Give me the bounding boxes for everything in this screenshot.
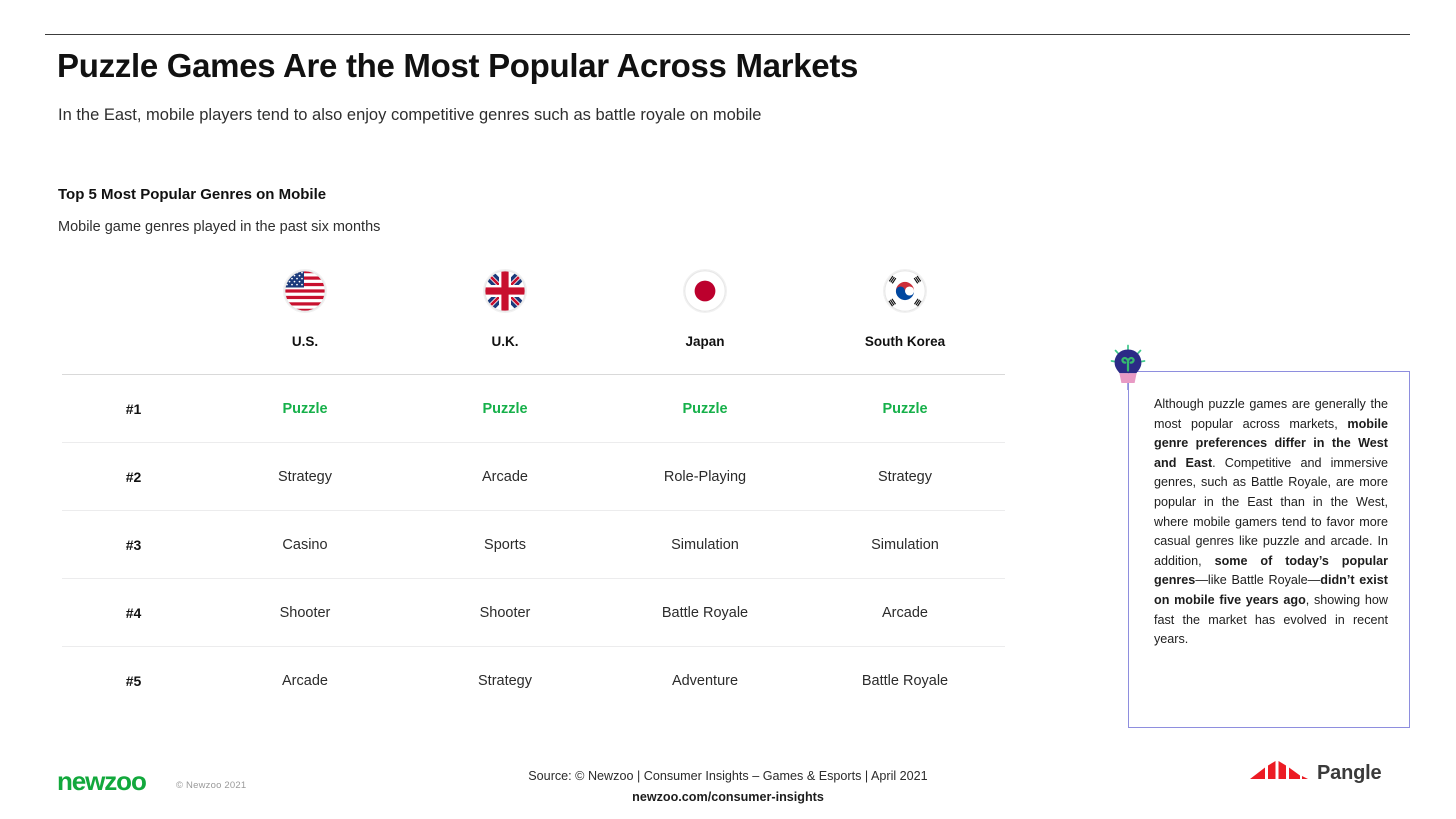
- market-label-uk: U.K.: [492, 334, 519, 349]
- genre-cell: Simulation: [605, 537, 805, 553]
- table-row: #4 Shooter Shooter Battle Royale Arcade: [62, 579, 1005, 646]
- rank-cell: #2: [62, 469, 205, 485]
- genre-cell: Shooter: [205, 605, 405, 621]
- genre-cell: Puzzle: [405, 401, 605, 417]
- genre-cell: Puzzle: [205, 401, 405, 417]
- market-header-us: U.S.: [205, 262, 405, 349]
- market-label-japan: Japan: [685, 334, 724, 349]
- pangle-mark-icon: [1248, 759, 1310, 788]
- page-title: Puzzle Games Are the Most Popular Across…: [57, 47, 858, 85]
- table-row: #1 Puzzle Puzzle Puzzle Puzzle: [62, 375, 1005, 442]
- chart-subtitle: Mobile game genres played in the past si…: [58, 219, 380, 235]
- source-line: Source: © Newzoo | Consumer Insights – G…: [0, 769, 1456, 783]
- slide-page: Puzzle Games Are the Most Popular Across…: [0, 0, 1456, 819]
- flag-japan-icon: [684, 270, 726, 312]
- header-divider: [45, 34, 1410, 35]
- page-subtitle: In the East, mobile players tend to also…: [58, 106, 761, 125]
- genre-cell: Strategy: [405, 673, 605, 689]
- flag-uk-icon: [484, 270, 526, 312]
- rank-cell: #1: [62, 401, 205, 417]
- flag-us-icon: [284, 270, 326, 312]
- rank-cell: #4: [62, 605, 205, 621]
- table-row: #5 Arcade Strategy Adventure Battle Roya…: [62, 647, 1005, 714]
- genre-cell: Strategy: [205, 469, 405, 485]
- table-row: #3 Casino Sports Simulation Simulation: [62, 511, 1005, 578]
- insight-callout-text: Although puzzle games are generally the …: [1129, 372, 1409, 650]
- genre-cell: Arcade: [205, 673, 405, 689]
- market-label-south-korea: South Korea: [865, 334, 945, 349]
- genre-cell: Arcade: [805, 605, 1005, 621]
- source-url[interactable]: newzoo.com/consumer-insights: [0, 790, 1456, 804]
- genre-cell: Simulation: [805, 537, 1005, 553]
- table-row: #2 Strategy Arcade Role-Playing Strategy: [62, 443, 1005, 510]
- insight-callout: Although puzzle games are generally the …: [1128, 371, 1410, 728]
- genre-cell: Strategy: [805, 469, 1005, 485]
- genre-cell: Adventure: [605, 673, 805, 689]
- market-header-uk: U.K.: [405, 262, 605, 349]
- genre-cell: Puzzle: [605, 401, 805, 417]
- genre-cell: Battle Royale: [605, 605, 805, 621]
- pangle-wordmark: Pangle: [1317, 762, 1381, 785]
- genre-cell: Battle Royale: [805, 673, 1005, 689]
- genre-cell: Puzzle: [805, 401, 1005, 417]
- chart-title: Top 5 Most Popular Genres on Mobile: [58, 186, 326, 203]
- market-header-japan: Japan: [605, 262, 805, 349]
- market-label-us: U.S.: [292, 334, 318, 349]
- market-header-south-korea: South Korea: [805, 262, 1005, 349]
- genres-table: U.S.: [62, 262, 1005, 714]
- lightbulb-icon: [1106, 344, 1150, 390]
- genre-cell: Sports: [405, 537, 605, 553]
- genre-cell: Shooter: [405, 605, 605, 621]
- rank-cell: #5: [62, 673, 205, 689]
- genre-cell: Casino: [205, 537, 405, 553]
- genre-cell: Role-Playing: [605, 469, 805, 485]
- table-header-row: U.S.: [62, 262, 1005, 374]
- flag-south-korea-icon: [884, 270, 926, 312]
- rank-cell: #3: [62, 537, 205, 553]
- genre-cell: Arcade: [405, 469, 605, 485]
- pangle-logo: Pangle: [1248, 759, 1381, 788]
